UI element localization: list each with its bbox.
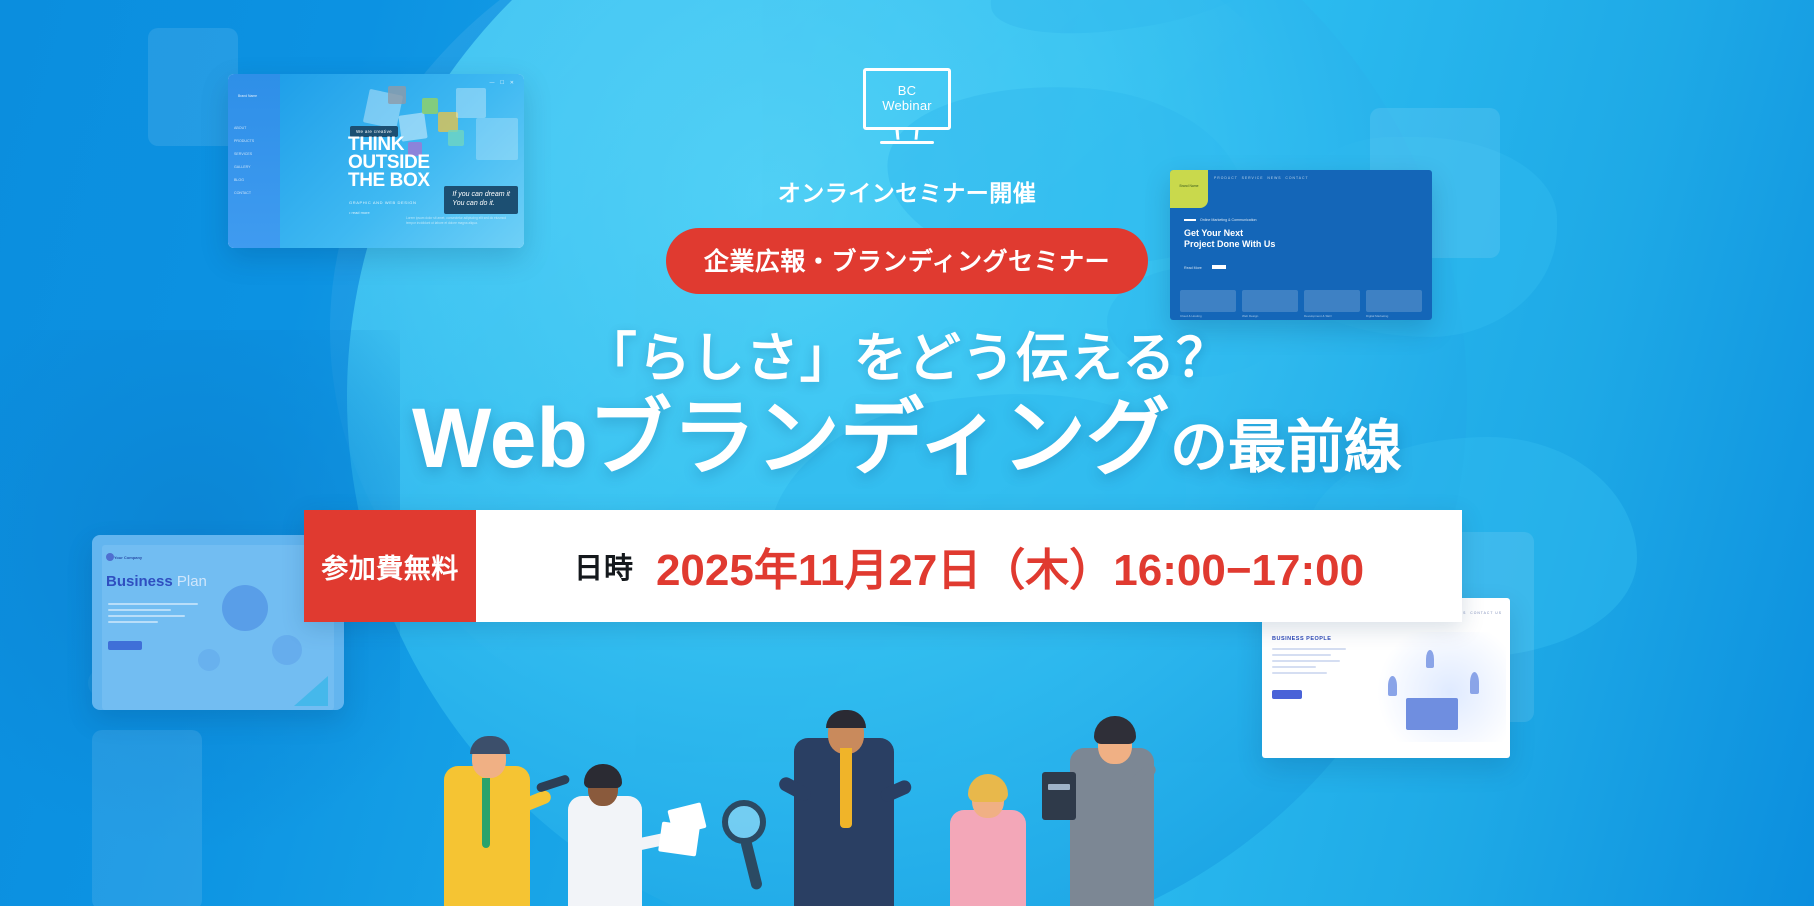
monitor-logo-text: BC Webinar [882, 84, 932, 114]
monitor-neck [895, 129, 918, 140]
hero-title-line2: Webブランディングの最前線 [0, 394, 1814, 482]
monitor-icon: BC Webinar [863, 68, 951, 130]
seminar-badge: 企業広報・ブランディングセミナー [666, 228, 1148, 294]
hero-title-suffix: の最前線 [1170, 415, 1402, 480]
monitor-base [880, 141, 934, 144]
person-grey-suit [1036, 706, 1166, 906]
bl-title: Business Plan [106, 573, 207, 590]
hero-content: BC Webinar オンラインセミナー開催 企業広報・ブランディングセミナー … [0, 0, 1814, 482]
person-papers [552, 766, 662, 906]
date-label: 日時 [574, 545, 634, 587]
person-yellow [432, 726, 552, 906]
bl-brand: Your Company [114, 555, 142, 560]
person-navy-suit [776, 696, 916, 906]
date-value: 2025年11月27日（木）16:00−17:00 [656, 534, 1364, 598]
hero-title-main: Webブランディング [412, 391, 1170, 485]
people-illustration [0, 646, 1814, 906]
br-headline: BUSINESS PEOPLE [1272, 636, 1331, 642]
hero-title-line1: 「らしさ」をどう伝える？ [0, 316, 1814, 392]
date-time-group: 日時 2025年11月27日（木）16:00−17:00 [476, 510, 1462, 622]
hero-banner: Brand Name ABOUTPRODUCTSSERVICESGALLERYB… [0, 0, 1814, 906]
hero-eyebrow: オンラインセミナー開催 [0, 174, 1814, 208]
free-admission-badge: 参加費無料 [304, 510, 476, 622]
person-pink [934, 776, 1044, 906]
info-bar: 参加費無料 日時 2025年11月27日（木）16:00−17:00 [304, 510, 1462, 622]
